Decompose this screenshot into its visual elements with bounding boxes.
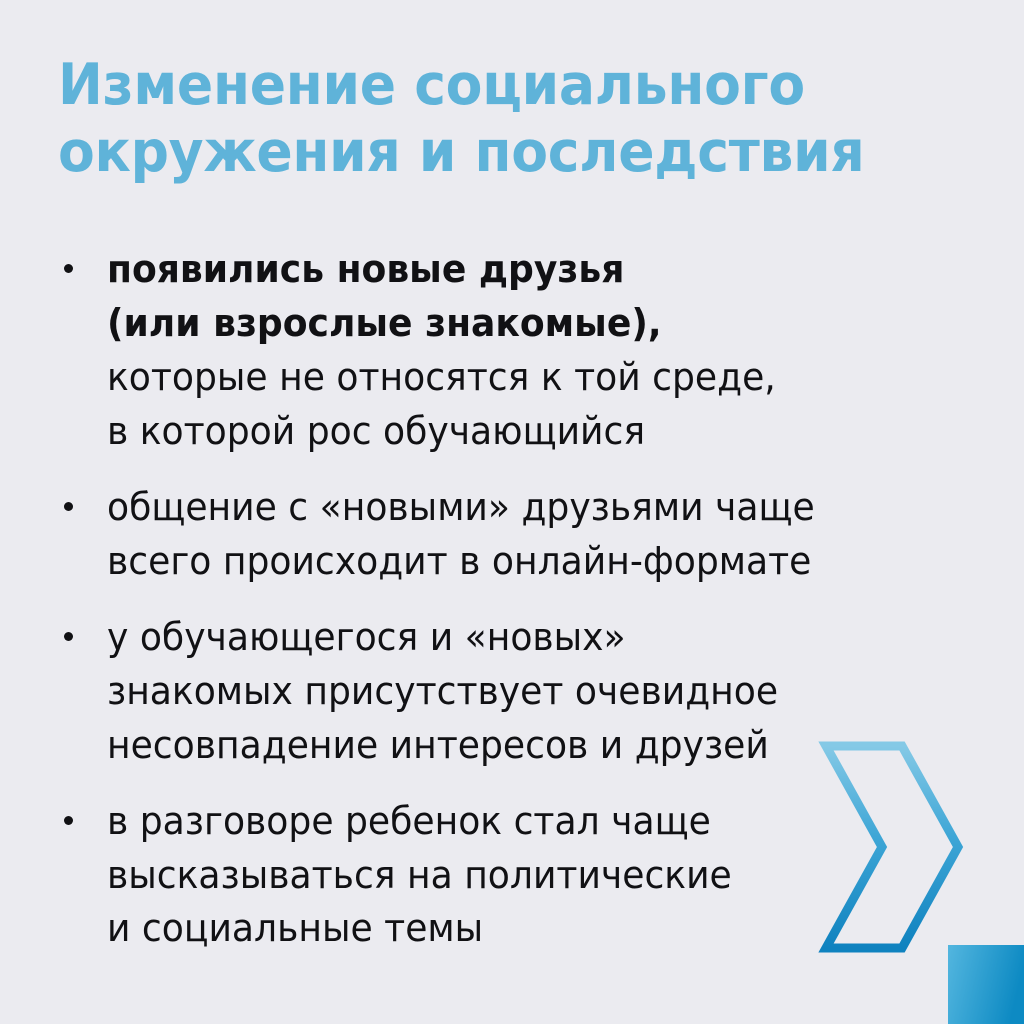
- bullet-item-2: общение с «новыми» друзьями чаще всего п…: [55, 481, 975, 589]
- bullet-dot-icon: [64, 264, 73, 273]
- bullet-text-2: общение с «новыми» друзьями чаще всего п…: [107, 481, 932, 589]
- bullet-item-1: появились новые друзья (или взрослые зна…: [55, 243, 975, 459]
- bullet-item-4: в разговоре ребенок стал чаще высказыват…: [55, 795, 975, 957]
- bullet-dot-icon: [64, 632, 73, 641]
- bullet-dot-icon: [64, 816, 73, 825]
- corner-accent-rect: [948, 945, 1024, 1024]
- slide-title: Изменение социального окружения и послед…: [58, 52, 904, 187]
- bullet-rest-2: общение с «новыми» друзьями чаще всего п…: [107, 485, 815, 583]
- bullet-lead-1: появились новые друзья (или взрослые зна…: [107, 247, 662, 345]
- bullet-rest-4: в разговоре ребенок стал чаще высказыват…: [107, 799, 732, 951]
- bullet-dot-icon: [64, 502, 73, 511]
- bullet-rest-1: которые не относятся к той среде, в кото…: [107, 355, 776, 453]
- slide-canvas: Изменение социального окружения и послед…: [0, 0, 1024, 1024]
- bullet-text-1: появились новые друзья (или взрослые зна…: [107, 243, 932, 459]
- bullet-list: появились новые друзья (или взрослые зна…: [55, 243, 975, 956]
- corner-accent-block: [948, 945, 1024, 1024]
- bullet-text-3: у обучающегося и «новых» знакомых присут…: [107, 611, 932, 773]
- bullet-rest-3: у обучающегося и «новых» знакомых присут…: [107, 615, 778, 767]
- bullet-item-3: у обучающегося и «новых» знакомых присут…: [55, 611, 975, 773]
- bullet-text-4: в разговоре ребенок стал чаще высказыват…: [107, 795, 932, 957]
